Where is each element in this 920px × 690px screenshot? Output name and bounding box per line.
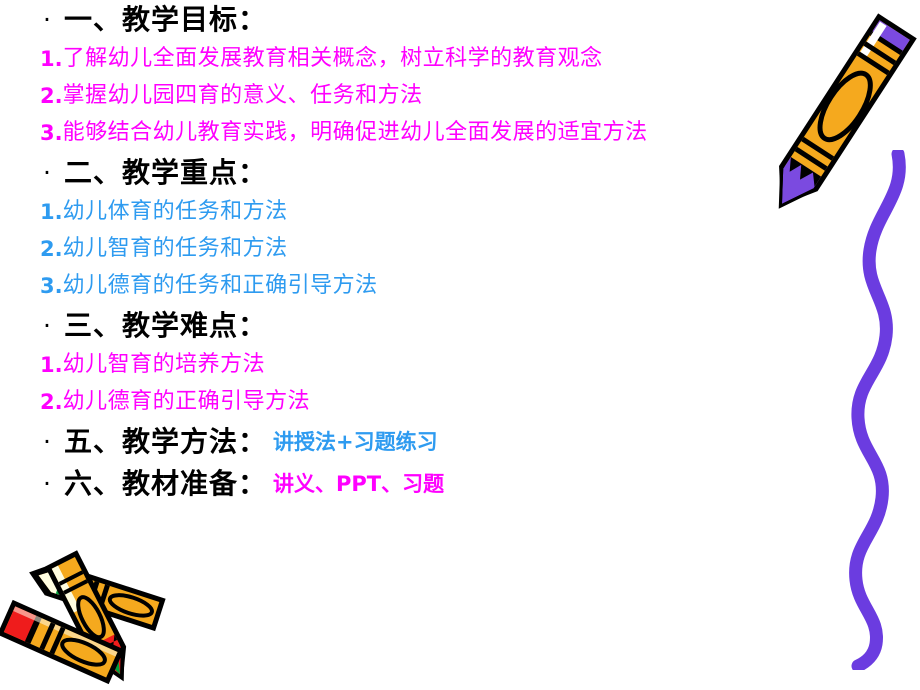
list-item: 3.幼儿德育的任务和正确引导方法: [0, 269, 780, 306]
section-heading: 二、教学重点：: [64, 153, 267, 193]
list-item: 2.幼儿智育的任务和方法: [0, 232, 780, 269]
section-heading-extra: 讲授法+习题练习: [267, 422, 438, 462]
list-item: 2.掌握幼儿园四育的意义、任务和方法: [0, 79, 780, 116]
section-heading: 一、教学目标：: [64, 0, 267, 40]
section-heading-row: ·二、教学重点：: [0, 153, 780, 195]
list-item-text: 幼儿体育的任务和方法: [63, 195, 288, 229]
section-heading-row: ·五、教学方法：讲授法+习题练习: [0, 422, 780, 464]
list-item-text: 掌握幼儿园四育的意义、任务和方法: [63, 79, 423, 113]
list-item-text: 幼儿德育的任务和正确引导方法: [63, 269, 378, 303]
bullet-glyph: ·: [30, 0, 64, 40]
section-heading-row: ·六、教材准备：讲义、PPT、习题: [0, 464, 780, 506]
list-item-number: 1.: [40, 42, 63, 76]
purple-squiggle-icon: [836, 150, 920, 670]
section-heading-extra: 讲义、PPT、习题: [267, 464, 444, 504]
list-item-number: 2.: [40, 79, 63, 113]
list-item-text: 幼儿德育的正确引导方法: [63, 385, 311, 419]
list-item-number: 1.: [40, 348, 63, 382]
section-heading-row: ·三、教学难点：: [0, 306, 780, 348]
list-item-number: 1.: [40, 195, 63, 229]
bullet-glyph: ·: [30, 422, 64, 462]
list-item-number: 3.: [40, 116, 63, 150]
slide-canvas: ·一、教学目标：1.了解幼儿全面发展教育相关概念，树立科学的教育观念2.掌握幼儿…: [0, 0, 920, 690]
list-item: 1.了解幼儿全面发展教育相关概念，树立科学的教育观念: [0, 42, 780, 79]
list-item-text: 能够结合幼儿教育实践，明确促进幼儿全面发展的适宜方法: [63, 116, 648, 150]
list-item: 1.幼儿智育的培养方法: [0, 348, 780, 385]
list-item-text: 幼儿智育的培养方法: [63, 348, 266, 382]
section-heading: 五、教学方法：: [64, 422, 267, 462]
list-item: 3.能够结合幼儿教育实践，明确促进幼儿全面发展的适宜方法: [0, 116, 780, 153]
list-item: 1.幼儿体育的任务和方法: [0, 195, 780, 232]
list-item-number: 2.: [40, 385, 63, 419]
list-item: 2.幼儿德育的正确引导方法: [0, 385, 780, 422]
list-item-text: 了解幼儿全面发展教育相关概念，树立科学的教育观念: [63, 42, 603, 76]
list-item-text: 幼儿智育的任务和方法: [63, 232, 288, 266]
slide-content: ·一、教学目标：1.了解幼儿全面发展教育相关概念，树立科学的教育观念2.掌握幼儿…: [0, 0, 780, 506]
section-heading-row: ·一、教学目标：: [0, 0, 780, 42]
bullet-glyph: ·: [30, 464, 64, 504]
list-item-number: 3.: [40, 269, 63, 303]
bullet-glyph: ·: [30, 153, 64, 193]
crayons-bottom-left-icon: [0, 545, 181, 690]
bullet-glyph: ·: [30, 306, 64, 346]
section-heading: 三、教学难点：: [64, 306, 267, 346]
section-heading: 六、教材准备：: [64, 464, 267, 504]
list-item-number: 2.: [40, 232, 63, 266]
